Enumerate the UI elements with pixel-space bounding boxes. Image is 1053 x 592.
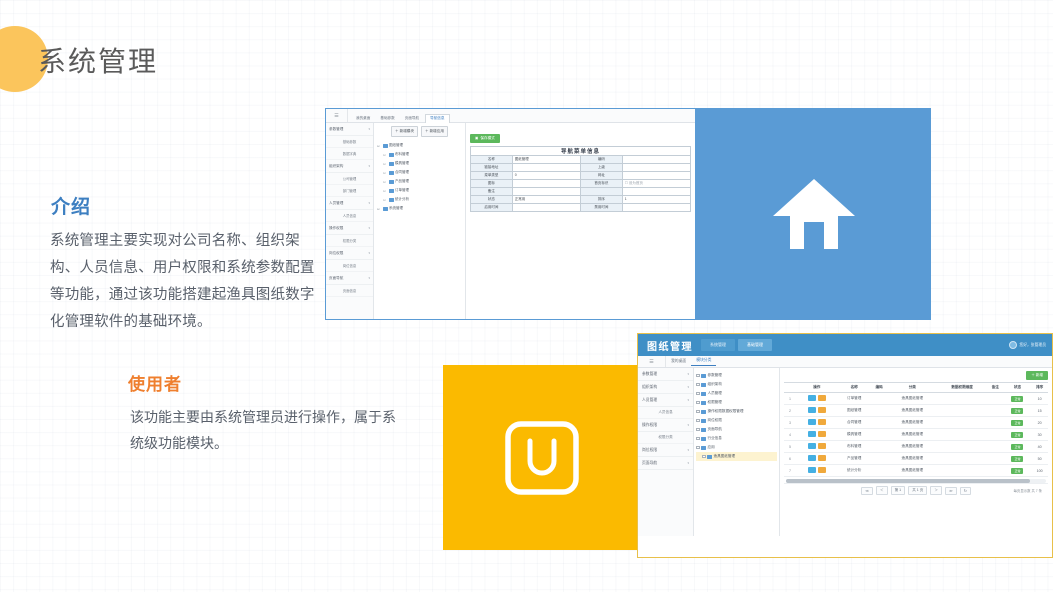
folder-icon [701, 419, 706, 423]
checkbox-icon[interactable] [696, 383, 700, 387]
chevron-down-icon: ▾ [687, 448, 689, 452]
cell-note [987, 417, 1004, 429]
cell-code [871, 453, 888, 465]
tree-node-5[interactable]: 岗位权限 [696, 416, 777, 425]
action-buttons [808, 419, 826, 425]
folder-icon [701, 446, 706, 450]
folder-icon [701, 410, 706, 414]
tree-node-0[interactable]: 参数管理 [696, 371, 777, 380]
field-value[interactable]: 正常用 [512, 195, 580, 203]
tab-3[interactable]: 导航信息 [425, 114, 449, 123]
sidebar-group-label: 岗位权限 [642, 448, 657, 453]
view-button[interactable] [808, 431, 816, 437]
cell-dimension [937, 417, 987, 429]
s1-body: 参数管理▾基础参数数据字典组织架构▾公司管理部门管理人员管理▾人员信息操作权限▾… [326, 123, 695, 320]
cell-status: 正常 [1004, 453, 1032, 465]
s1-tab-strip: 我的桌面基础参数页面导航导航信息 [348, 109, 450, 123]
cell-name: 合同管理 [838, 417, 871, 429]
sidebar-group-1[interactable]: 组织架构▾ [638, 381, 693, 394]
checkbox-icon[interactable] [696, 401, 700, 405]
tree-node-label: 渔具图纸管理 [714, 454, 736, 459]
field-value[interactable]: 0 [512, 171, 580, 179]
expand-icon[interactable]: ⊡ [383, 180, 387, 184]
folder-icon [389, 198, 394, 202]
tree-node-5[interactable]: ⊡订单管理 [377, 186, 462, 195]
sidebar-group-label: 组织架构 [642, 385, 657, 390]
cell-name: 统计分析 [838, 465, 871, 477]
field-value[interactable] [512, 163, 580, 171]
field-label: 菜单类型 [471, 171, 513, 179]
expand-icon[interactable]: ⊟ [377, 144, 381, 148]
cell-note [987, 441, 1004, 453]
tree-node-label: 参数管理 [708, 373, 722, 378]
cell-code [871, 405, 888, 417]
tab-0[interactable]: 我的桌面 [666, 359, 691, 364]
folder-icon [701, 401, 706, 405]
checkbox-icon[interactable] [696, 410, 700, 414]
cell-category: 渔具图纸管理 [887, 417, 937, 429]
save-icon: ▣ [475, 136, 478, 140]
edit-button[interactable] [818, 455, 826, 461]
sidebar-group-label: 页面导航 [642, 461, 657, 466]
cell-status: 正常 [1004, 405, 1032, 417]
field-value[interactable] [622, 171, 690, 179]
sidebar-item-3[interactable]: 人员信息 [638, 407, 693, 419]
sidebar-group-label: 人员管理 [642, 398, 657, 403]
sidebar-group-label: 操作权限 [329, 226, 343, 231]
tree-node-label: 布料管理 [395, 152, 409, 157]
cell-dimension [937, 441, 987, 453]
last-page-button[interactable]: ≫ [945, 487, 957, 495]
tree-node-2[interactable]: ⊡模具管理 [377, 159, 462, 168]
field-label: 首页标识 [580, 179, 622, 187]
folder-icon [701, 428, 706, 432]
user-name: 您好，张管理员 [1019, 343, 1046, 348]
field-label: 启用时间 [471, 203, 513, 211]
field-value[interactable]: 图纸管理 [512, 155, 580, 163]
action-buttons [808, 431, 826, 437]
tree-node-4[interactable]: ⊡产品管理 [377, 177, 462, 186]
sidebar-item-5[interactable]: 部门管理 [326, 185, 373, 197]
cell-actions [796, 441, 838, 453]
add-module-button[interactable]: ＋ 新增模块 [391, 126, 418, 137]
col-header-7: 状态 [1004, 383, 1032, 393]
tree-node-label: 模具管理 [395, 161, 409, 166]
chevron-down-icon: ▾ [368, 276, 370, 280]
field-value[interactable] [622, 203, 690, 211]
folder-icon [389, 189, 394, 193]
tree-node-7[interactable]: 行业信息 [696, 434, 777, 443]
sidebar-group-label: 操作权限 [642, 423, 657, 428]
table-row[interactable]: 5布料管理渔具图纸管理正常40 [784, 441, 1048, 453]
avatar [1009, 341, 1017, 349]
sidebar-group-12[interactable]: 页面导航▾ [326, 272, 373, 285]
col-header-6: 备注 [987, 383, 1004, 393]
col-header-0 [784, 383, 796, 393]
status-badge: 正常 [1011, 420, 1023, 426]
edit-button[interactable] [818, 467, 826, 473]
cell-index: 4 [784, 429, 796, 441]
table-row[interactable]: 3合同管理渔具图纸管理正常20 [784, 417, 1048, 429]
cell-note [987, 429, 1004, 441]
reload-button[interactable]: ↻ [960, 487, 971, 495]
checkbox-icon[interactable] [696, 437, 700, 441]
tree-node-6[interactable]: ⊡统计分析 [377, 195, 462, 204]
module-table: 操作名称编码分类数据权限维度备注状态排序 1订单管理渔具图纸管理正常102图纸管… [784, 382, 1048, 477]
tree-node-label: 合同管理 [395, 170, 409, 175]
cell-note [987, 453, 1004, 465]
sidebar-item-2[interactable]: 数据字典 [326, 148, 373, 160]
field-label [580, 187, 622, 195]
cell-sort: 30 [1031, 429, 1048, 441]
sidebar-group-10[interactable]: 岗位权限▾ [326, 247, 373, 260]
cell-status: 正常 [1004, 465, 1032, 477]
tab-2[interactable]: 页面导航 [401, 115, 423, 123]
cell-actions [796, 393, 838, 405]
tree-node-label: 组织架构 [708, 382, 722, 387]
field-label: 图标 [471, 179, 513, 187]
view-button[interactable] [808, 395, 816, 401]
cell-status: 正常 [1004, 441, 1032, 453]
field-value[interactable] [512, 179, 580, 187]
cell-sort: 40 [1031, 441, 1048, 453]
expand-icon[interactable]: ⊡ [383, 153, 387, 157]
s1-form-panel: ▣ 保存模式 导航菜单信息名称图纸管理编码链接地址上级菜单类型0网址图标首页标识… [466, 123, 695, 320]
first-page-button[interactable]: ≪ [861, 487, 873, 495]
cell-sort: 10 [1031, 393, 1048, 405]
status-badge: 正常 [1011, 456, 1023, 462]
field-value[interactable]: ☐ 设为首页 [622, 179, 690, 187]
cell-category: 渔具图纸管理 [887, 429, 937, 441]
sidebar-item-5[interactable]: 权限分类 [638, 432, 693, 444]
chevron-down-icon: ▾ [687, 385, 689, 389]
form-row: 菜单类型0网址 [471, 171, 691, 179]
folder-icon [701, 392, 706, 396]
view-button[interactable] [808, 455, 816, 461]
folder-icon [701, 374, 706, 378]
tree-node-1[interactable]: 组织架构 [696, 380, 777, 389]
tree-node-3[interactable]: ⊡合同管理 [377, 168, 462, 177]
cell-sort: 100 [1031, 465, 1048, 477]
sidebar-group-6[interactable]: 人员管理▾ [326, 197, 373, 210]
chevron-down-icon: ▾ [368, 226, 370, 230]
chevron-down-icon: ▾ [687, 423, 689, 427]
users-body: 该功能主要由系统管理员进行操作，属于系统级功能模块。 [130, 404, 398, 456]
tree-node-0[interactable]: ⊟图纸管理 [377, 141, 462, 150]
cell-category: 渔具图纸管理 [887, 405, 937, 417]
folder-icon [389, 162, 394, 166]
status-badge: 正常 [1011, 468, 1023, 474]
edit-button[interactable] [818, 395, 826, 401]
view-button[interactable] [808, 407, 816, 413]
action-buttons [808, 467, 826, 473]
app-logo: 图纸管理 [638, 338, 701, 353]
cell-dimension [937, 393, 987, 405]
view-button[interactable] [808, 443, 816, 449]
status-badge: 正常 [1011, 396, 1023, 402]
page-total[interactable]: 共 1 页 [908, 486, 927, 495]
field-value[interactable]: 1 [622, 195, 690, 203]
hamburger-icon[interactable]: ☰ [638, 356, 666, 367]
slide-canvas: 系统管理 介绍 系统管理主要实现对公司名称、组织架构、人员信息、用户权限和系统参… [0, 0, 1053, 592]
status-badge: 正常 [1011, 432, 1023, 438]
tree-node-label: 人员管理 [708, 391, 722, 396]
field-value[interactable] [512, 187, 580, 195]
sidebar-group-3[interactable]: 组织架构▾ [326, 160, 373, 173]
edit-button[interactable] [818, 443, 826, 449]
folder-icon [389, 153, 394, 157]
intro-heading: 介绍 [51, 192, 91, 219]
table-row[interactable]: 6产品管理渔具图纸管理正常50 [784, 453, 1048, 465]
cell-dimension [937, 429, 987, 441]
page-number[interactable]: 第 1 [891, 486, 906, 495]
folder-icon [701, 383, 706, 387]
tree-node-label: 岗位权限 [708, 418, 722, 423]
cell-code [871, 441, 888, 453]
cell-category: 渔具图纸管理 [887, 441, 937, 453]
nav-1[interactable]: 基础管理 [738, 339, 772, 351]
table-row[interactable]: 7统计分析渔具图纸管理正常100 [784, 465, 1048, 477]
cell-index: 2 [784, 405, 796, 417]
sidebar-item-11[interactable]: 岗位信息 [326, 260, 373, 272]
cell-actions [796, 465, 838, 477]
s4-tree-panel: 参数管理组织架构人员管理权限管理操作权限数据权限管理岗位权限页面导航行业信息应用… [694, 368, 780, 536]
intro-body: 系统管理主要实现对公司名称、组织架构、人员信息、用户权限和系统参数配置等功能，通… [50, 228, 322, 336]
table-row[interactable]: 4模具管理渔具图纸管理正常30 [784, 429, 1048, 441]
tree-node-label: 订单管理 [395, 188, 409, 193]
prev-page-button[interactable]: ＜ [876, 486, 888, 495]
status-badge: 正常 [1011, 444, 1023, 450]
tree-node-7[interactable]: ⊟系统管理 [377, 204, 462, 213]
s4-sidebar: 参数管理▾组织架构▾人员管理▾人员信息操作权限▾权限分类岗位权限▾页面导航▾ [638, 368, 694, 536]
tree-node-label: 行业信息 [708, 436, 722, 441]
action-buttons [808, 407, 826, 413]
tree-node-label: 图纸管理 [389, 143, 403, 148]
checkbox-icon[interactable] [696, 419, 700, 423]
view-button[interactable] [808, 467, 816, 473]
cell-name: 订单管理 [838, 393, 871, 405]
sidebar-group-0[interactable]: 参数管理▾ [326, 123, 373, 136]
cell-status: 正常 [1004, 429, 1032, 441]
tree-node-2[interactable]: 人员管理 [696, 389, 777, 398]
field-label: 上级 [580, 163, 622, 171]
s1-tree-buttons: ＋ 新增模块 ＋ 新增应用 [377, 126, 462, 137]
expand-icon[interactable]: ⊡ [383, 162, 387, 166]
sidebar-group-8[interactable]: 操作权限▾ [326, 222, 373, 235]
tree-node-label: 操作权限数据权限管理 [708, 409, 744, 414]
checkbox-icon[interactable] [702, 455, 706, 459]
tab-0[interactable]: 我的桌面 [352, 115, 374, 123]
folder-icon [701, 437, 706, 441]
col-header-3: 编码 [871, 383, 888, 393]
screenshot-home-tile [696, 108, 931, 320]
bag-u-icon [504, 420, 580, 496]
cell-note [987, 465, 1004, 477]
page-title: 系统管理 [38, 40, 158, 80]
tree-node-9[interactable]: 渔具图纸管理 [696, 452, 777, 461]
cell-note [987, 393, 1004, 405]
screenshot-module-table: 图纸管理 系统管理基础管理 您好，张管理员 ☰ 我的桌面模块分类 参数管理▾组织… [637, 333, 1053, 558]
cell-code [871, 465, 888, 477]
cell-index: 1 [784, 393, 796, 405]
cell-code [871, 417, 888, 429]
hamburger-icon[interactable]: ☰ [326, 109, 348, 122]
next-page-button[interactable]: ＞ [930, 486, 942, 495]
edit-button[interactable] [818, 407, 826, 413]
users-heading: 使用者 [128, 370, 182, 395]
table-row[interactable]: 2图纸管理渔具图纸管理正常15 [784, 405, 1048, 417]
cell-code [871, 393, 888, 405]
cell-dimension [937, 405, 987, 417]
cell-actions [796, 417, 838, 429]
cell-category: 渔具图纸管理 [887, 453, 937, 465]
action-buttons [808, 455, 826, 461]
sidebar-group-6[interactable]: 岗位权限▾ [638, 444, 693, 457]
cell-code [871, 429, 888, 441]
add-button[interactable]: ＋ 新增 [1026, 371, 1048, 380]
sidebar-group-label: 页面导航 [329, 276, 343, 281]
expand-icon[interactable]: ⊡ [383, 189, 387, 193]
cell-sort: 20 [1031, 417, 1048, 429]
cell-note [987, 405, 1004, 417]
cell-name: 模具管理 [838, 429, 871, 441]
s4-toolbar: ＋ 新增 [784, 371, 1048, 380]
chevron-down-icon: ▾ [687, 461, 689, 465]
pagination-bar: ≪＜第 1共 1 页＞≫↻每页显示数 共 7 条 [784, 483, 1048, 497]
cell-actions [796, 405, 838, 417]
chevron-down-icon: ▾ [687, 398, 689, 402]
sidebar-item-7[interactable]: 人员信息 [326, 210, 373, 222]
tree-node-1[interactable]: ⊡布料管理 [377, 150, 462, 159]
field-label: 名称 [471, 155, 513, 163]
s1-tree: ⊟图纸管理⊡布料管理⊡模具管理⊡合同管理⊡产品管理⊡订单管理⊡统计分析⊟系统管理 [377, 141, 462, 213]
nav-0[interactable]: 系统管理 [701, 339, 735, 351]
field-label: 编码 [580, 155, 622, 163]
table-row[interactable]: 1订单管理渔具图纸管理正常10 [784, 393, 1048, 405]
tree-node-6[interactable]: 页面导航 [696, 425, 777, 434]
cell-index: 7 [784, 465, 796, 477]
tab-1[interactable]: 基础参数 [376, 115, 398, 123]
cell-index: 6 [784, 453, 796, 465]
checkbox-icon[interactable] [696, 446, 700, 450]
chevron-down-icon: ▾ [687, 372, 689, 376]
field-value[interactable] [512, 203, 580, 211]
tree-node-3[interactable]: 权限管理 [696, 398, 777, 407]
cell-sort: 15 [1031, 405, 1048, 417]
s1-sidebar: 参数管理▾基础参数数据字典组织架构▾公司管理部门管理人员管理▾人员信息操作权限▾… [326, 123, 374, 320]
folder-icon [383, 144, 388, 148]
field-value[interactable] [622, 187, 690, 195]
cell-dimension [937, 465, 987, 477]
form-row: 名称图纸管理编码 [471, 155, 691, 163]
expand-icon[interactable]: ⊡ [383, 198, 387, 202]
tree-node-label: 产品管理 [395, 179, 409, 184]
sidebar-group-label: 参数管理 [329, 127, 343, 132]
col-header-4: 分类 [887, 383, 937, 393]
status-badge: 正常 [1011, 408, 1023, 414]
sidebar-item-1[interactable]: 基础参数 [326, 136, 373, 148]
tree-node-8[interactable]: 应用 [696, 443, 777, 452]
chevron-down-icon: ▾ [368, 127, 370, 131]
tree-node-label: 权限管理 [708, 400, 722, 405]
folder-icon [383, 207, 388, 211]
nav-menu-form-table: 导航菜单信息名称图纸管理编码链接地址上级菜单类型0网址图标首页标识☐ 设为首页备… [470, 146, 691, 212]
expand-icon[interactable]: ⊟ [377, 207, 381, 211]
field-value[interactable] [622, 163, 690, 171]
field-label: 备注 [471, 187, 513, 195]
tree-node-label: 统计分析 [395, 197, 409, 202]
sidebar-item-4[interactable]: 公司管理 [326, 173, 373, 185]
form-row: 备注 [471, 187, 691, 195]
save-mode-button[interactable]: ▣ 保存模式 [470, 134, 500, 143]
screenshot-menu-admin: ☰ 我的桌面基础参数页面导航导航信息 参数管理▾基础参数数据字典组织架构▾公司管… [325, 108, 696, 320]
sidebar-item-13[interactable]: 页面信息 [326, 285, 373, 297]
tree-node-label: 应用 [708, 445, 715, 450]
cell-name: 产品管理 [838, 453, 871, 465]
col-header-2: 名称 [838, 383, 871, 393]
sidebar-group-2[interactable]: 人员管理▾ [638, 394, 693, 407]
field-label: 网址 [580, 171, 622, 179]
action-buttons [808, 395, 826, 401]
cell-name: 图纸管理 [838, 405, 871, 417]
sidebar-group-7[interactable]: 页面导航▾ [638, 457, 693, 470]
action-buttons [808, 443, 826, 449]
sidebar-group-label: 组织架构 [329, 164, 343, 169]
folder-icon [389, 171, 394, 175]
edit-button[interactable] [818, 419, 826, 425]
s4-tab-strip: 我的桌面模块分类 [666, 358, 716, 366]
cell-category: 渔具图纸管理 [887, 465, 937, 477]
s1-topbar: ☰ 我的桌面基础参数页面导航导航信息 [326, 109, 695, 123]
total-records: 每页显示数 共 7 条 [1014, 488, 1042, 493]
expand-icon[interactable]: ⊡ [383, 171, 387, 175]
cell-actions [796, 429, 838, 441]
form-row: 链接地址上级 [471, 163, 691, 171]
sidebar-group-label: 参数管理 [642, 372, 657, 377]
edit-button[interactable] [818, 431, 826, 437]
checkbox-icon[interactable] [696, 428, 700, 432]
form-row: 状态正常用排序1 [471, 195, 691, 203]
chevron-down-icon: ▾ [368, 164, 370, 168]
cell-status: 正常 [1004, 393, 1032, 405]
col-header-8: 排序 [1031, 383, 1048, 393]
cell-sort: 50 [1031, 453, 1048, 465]
view-button[interactable] [808, 419, 816, 425]
sidebar-group-0[interactable]: 参数管理▾ [638, 368, 693, 381]
user-area[interactable]: 您好，张管理员 [1009, 341, 1046, 349]
col-header-5: 数据权限维度 [937, 383, 987, 393]
cell-index: 5 [784, 441, 796, 453]
add-app-button[interactable]: ＋ 新增应用 [421, 126, 448, 137]
cell-category: 渔具图纸管理 [887, 393, 937, 405]
field-label: 禁用时间 [580, 203, 622, 211]
folder-icon [389, 180, 394, 184]
chevron-down-icon: ▾ [368, 201, 370, 205]
checkbox-icon[interactable] [696, 392, 700, 396]
form-title: 导航菜单信息 [471, 146, 691, 155]
sidebar-item-9[interactable]: 权限分类 [326, 235, 373, 247]
screenshot-bag-tile [443, 365, 640, 550]
s4-body: 参数管理▾组织架构▾人员管理▾人员信息操作权限▾权限分类岗位权限▾页面导航▾ 参… [638, 368, 1052, 536]
field-value[interactable] [622, 155, 690, 163]
tab-1[interactable]: 模块分类 [691, 358, 716, 366]
checkbox-icon[interactable] [696, 374, 700, 378]
s4-header: 图纸管理 系统管理基础管理 您好，张管理员 [638, 334, 1052, 356]
cell-dimension [937, 453, 987, 465]
field-label: 链接地址 [471, 163, 513, 171]
tree-node-4[interactable]: 操作权限数据权限管理 [696, 407, 777, 416]
sidebar-group-4[interactable]: 操作权限▾ [638, 419, 693, 432]
